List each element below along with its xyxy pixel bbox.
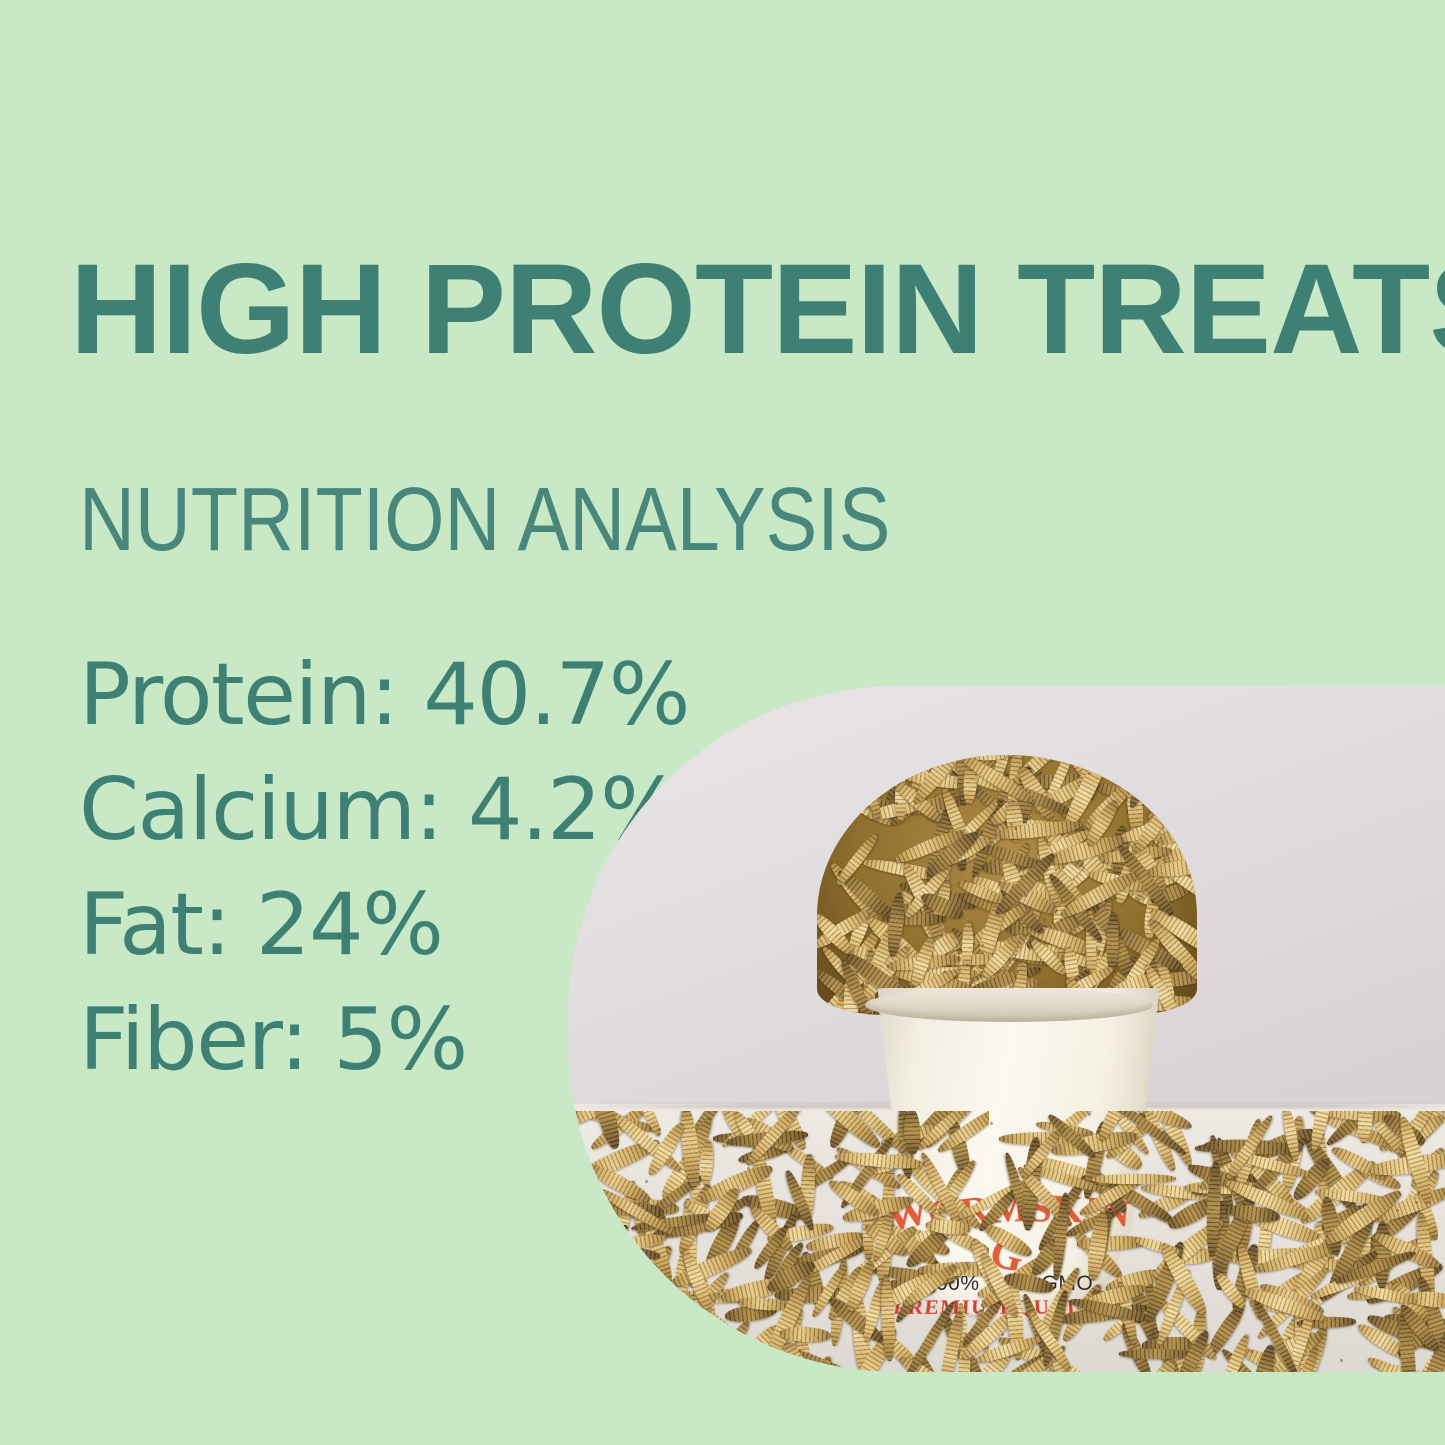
page-title: HIGH PROTEIN TREATS — [70, 246, 1400, 374]
debris-speck — [1088, 1113, 1091, 1116]
page-subtitle: NUTRITION ANALYSIS — [79, 475, 890, 565]
bowl-rim — [865, 988, 1153, 1022]
debris-speck — [964, 880, 967, 883]
larvae-scatter — [568, 1111, 1445, 1372]
debris-speck — [990, 1122, 993, 1125]
product-infographic: HIGH PROTEIN TREATS NUTRITION ANALYSIS P… — [0, 0, 1445, 1445]
debris-speck — [1074, 934, 1077, 937]
larvae-scatter-right — [954, 1111, 1445, 1372]
debris-speck — [1171, 755, 1174, 758]
debris-speck — [895, 802, 898, 805]
debris-speck — [1024, 894, 1027, 897]
debris-speck — [1051, 760, 1054, 763]
larva — [1091, 1173, 1176, 1184]
larva — [1119, 1348, 1194, 1359]
debris-speck — [1340, 1359, 1343, 1362]
debris-speck — [845, 958, 848, 961]
product-photo: WORMSKING 100% NON-GMO PREMIUM QUALITY — [568, 686, 1445, 1372]
debris-speck — [1060, 919, 1063, 922]
debris-speck — [1043, 918, 1046, 921]
debris-speck — [1028, 801, 1031, 804]
debris-speck — [1106, 982, 1109, 985]
debris-speck — [1010, 823, 1013, 826]
debris-speck — [879, 803, 882, 806]
debris-speck — [1014, 827, 1017, 830]
debris-speck — [1001, 1333, 1004, 1336]
debris-speck — [981, 944, 984, 947]
larvae-scatter-left — [568, 1111, 989, 1372]
larvae-heap — [817, 755, 1197, 1015]
debris-speck — [1088, 772, 1091, 775]
debris-speck — [1189, 1125, 1192, 1128]
debris-speck — [645, 1180, 648, 1183]
debris-speck — [1336, 1254, 1339, 1257]
debris-speck — [963, 1233, 966, 1236]
